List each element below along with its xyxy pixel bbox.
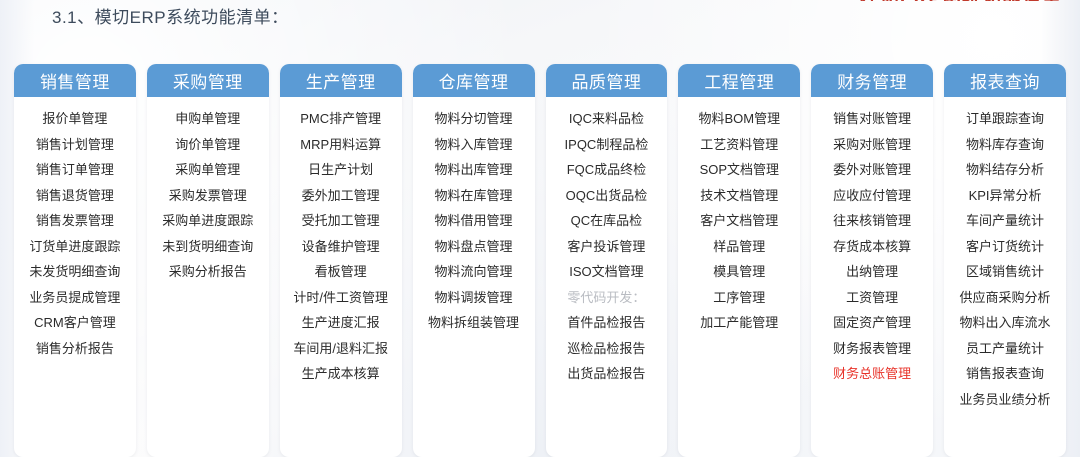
module-item-list: 物料分切管理物料入库管理物料出库管理物料在库管理物料借用管理物料盘点管理物料流向…: [413, 97, 535, 346]
module-card-title[interactable]: 仓库管理: [413, 64, 535, 97]
module-item[interactable]: IPQC制程品检: [565, 132, 649, 158]
slide-page: 模切ERP系统功能清单 3.1、模切ERP系统功能清单： 销售管理报价单管理销售…: [0, 0, 1080, 457]
module-item[interactable]: 业务员提成管理: [29, 285, 120, 311]
module-item[interactable]: 物料BOM管理: [699, 106, 781, 132]
module-item[interactable]: 财务报表管理: [833, 336, 911, 362]
module-item[interactable]: 委外对账管理: [833, 157, 911, 183]
module-item[interactable]: 采购单进度跟踪: [162, 208, 253, 234]
module-card-title[interactable]: 采购管理: [147, 64, 269, 97]
module-item[interactable]: 工序管理: [713, 285, 765, 311]
module-card: 采购管理申购单管理询价单管理采购单管理采购发票管理采购单进度跟踪未到货明细查询采…: [147, 64, 269, 457]
module-item-list: 申购单管理询价单管理采购单管理采购发票管理采购单进度跟踪未到货明细查询采购分析报…: [147, 97, 269, 295]
module-item[interactable]: 模具管理: [713, 259, 765, 285]
module-item[interactable]: 加工产能管理: [700, 310, 778, 336]
module-item[interactable]: 受托加工管理: [302, 208, 380, 234]
module-item[interactable]: 询价单管理: [175, 132, 240, 158]
module-item[interactable]: 采购发票管理: [169, 183, 247, 209]
module-item[interactable]: 销售计划管理: [36, 132, 114, 158]
module-item[interactable]: 出货品检报告: [567, 361, 645, 387]
module-item[interactable]: 采购对账管理: [833, 132, 911, 158]
module-card-title[interactable]: 财务管理: [811, 64, 933, 97]
module-item[interactable]: 存货成本核算: [833, 234, 911, 260]
module-item[interactable]: 申购单管理: [175, 106, 240, 132]
module-item[interactable]: QC在库品检: [571, 208, 643, 234]
module-item[interactable]: SOP文档管理: [700, 157, 779, 183]
module-item[interactable]: IQC来料品检: [569, 106, 644, 132]
module-item[interactable]: 应收应付管理: [833, 183, 911, 209]
module-item[interactable]: 物料分切管理: [435, 106, 513, 132]
module-item-list: IQC来料品检IPQC制程品检FQC成品终检OQC出货品检QC在库品检客户投诉管…: [546, 97, 668, 397]
module-item[interactable]: 物料盘点管理: [435, 234, 513, 260]
module-item[interactable]: 首件品检报告: [567, 310, 645, 336]
module-item-group-label: 零代码开发：: [567, 285, 645, 311]
module-item[interactable]: 设备维护管理: [302, 234, 380, 260]
module-item[interactable]: 计时/件工资管理: [293, 285, 388, 311]
module-item[interactable]: PMC排产管理: [300, 106, 381, 132]
module-item[interactable]: 物料出库管理: [435, 157, 513, 183]
module-item[interactable]: 客户文档管理: [700, 208, 778, 234]
module-item[interactable]: 未发货明细查询: [29, 259, 120, 285]
module-item[interactable]: 出纳管理: [846, 259, 898, 285]
module-item[interactable]: 物料流向管理: [435, 259, 513, 285]
module-card: 生产管理PMC排产管理MRP用料运算日生产计划委外加工管理受托加工管理设备维护管…: [280, 64, 402, 457]
module-item[interactable]: 订单跟踪查询: [966, 106, 1044, 132]
module-card-title[interactable]: 生产管理: [280, 64, 402, 97]
module-item[interactable]: 业务员业绩分析: [960, 387, 1051, 413]
module-item[interactable]: 委外加工管理: [302, 183, 380, 209]
module-item[interactable]: 销售退货管理: [36, 183, 114, 209]
module-item[interactable]: 采购单管理: [175, 157, 240, 183]
module-item[interactable]: 物料结存分析: [966, 157, 1044, 183]
module-item-list: 销售对账管理采购对账管理委外对账管理应收应付管理往来核销管理存货成本核算出纳管理…: [811, 97, 933, 397]
module-item[interactable]: 财务总账管理: [833, 361, 911, 387]
module-item[interactable]: 固定资产管理: [833, 310, 911, 336]
module-item[interactable]: MRP用料运算: [300, 132, 381, 158]
module-card-title[interactable]: 品质管理: [546, 64, 668, 97]
module-item[interactable]: 样品管理: [713, 234, 765, 260]
module-item[interactable]: 物料拆组装管理: [428, 310, 519, 336]
module-item[interactable]: 订货单进度跟踪: [29, 234, 120, 260]
module-card-title[interactable]: 工程管理: [678, 64, 800, 97]
module-item[interactable]: 未到货明细查询: [162, 234, 253, 260]
module-card-title[interactable]: 销售管理: [14, 64, 136, 97]
module-card-title[interactable]: 报表查询: [944, 64, 1066, 97]
module-item[interactable]: 生产成本核算: [302, 361, 380, 387]
module-item[interactable]: FQC成品终检: [567, 157, 646, 183]
module-item[interactable]: 物料调拨管理: [435, 285, 513, 311]
module-item[interactable]: 工艺资料管理: [700, 132, 778, 158]
module-card-grid: 销售管理报价单管理销售计划管理销售订单管理销售退货管理销售发票管理订货单进度跟踪…: [14, 64, 1066, 457]
module-card: 销售管理报价单管理销售计划管理销售订单管理销售退货管理销售发票管理订货单进度跟踪…: [14, 64, 136, 457]
module-item[interactable]: ISO文档管理: [569, 259, 643, 285]
module-card: 品质管理IQC来料品检IPQC制程品检FQC成品终检OQC出货品检QC在库品检客…: [546, 64, 668, 457]
module-item[interactable]: 车间用/退料汇报: [293, 336, 388, 362]
module-item[interactable]: 看板管理: [315, 259, 367, 285]
module-item[interactable]: OQC出货品检: [566, 183, 648, 209]
module-item[interactable]: 巡检品检报告: [567, 336, 645, 362]
module-item[interactable]: 日生产计划: [308, 157, 373, 183]
module-item[interactable]: 报价单管理: [42, 106, 107, 132]
module-card: 报表查询订单跟踪查询物料库存查询物料结存分析KPI异常分析车间产量统计客户订货统…: [944, 64, 1066, 457]
module-item[interactable]: 区域销售统计: [966, 259, 1044, 285]
module-item[interactable]: 工资管理: [846, 285, 898, 311]
module-item[interactable]: 物料借用管理: [435, 208, 513, 234]
module-item[interactable]: 往来核销管理: [833, 208, 911, 234]
module-item[interactable]: 客户投诉管理: [567, 234, 645, 260]
module-item-list: 报价单管理销售计划管理销售订单管理销售退货管理销售发票管理订货单进度跟踪未发货明…: [14, 97, 136, 371]
module-item[interactable]: CRM客户管理: [34, 310, 116, 336]
module-item[interactable]: 客户订货统计: [966, 234, 1044, 260]
module-item[interactable]: 销售报表查询: [966, 361, 1044, 387]
module-item-list: 订单跟踪查询物料库存查询物料结存分析KPI异常分析车间产量统计客户订货统计区域销…: [944, 97, 1066, 422]
module-item[interactable]: 技术文档管理: [700, 183, 778, 209]
clipped-top-heading: 模切ERP系统功能清单: [860, 0, 1062, 1]
module-item[interactable]: 销售对账管理: [833, 106, 911, 132]
module-item[interactable]: 供应商采购分析: [960, 285, 1051, 311]
module-item-list: 物料BOM管理工艺资料管理SOP文档管理技术文档管理客户文档管理样品管理模具管理…: [678, 97, 800, 346]
module-card: 工程管理物料BOM管理工艺资料管理SOP文档管理技术文档管理客户文档管理样品管理…: [678, 64, 800, 457]
module-item[interactable]: 销售发票管理: [36, 208, 114, 234]
module-item[interactable]: 生产进度汇报: [302, 310, 380, 336]
module-item[interactable]: 物料在库管理: [435, 183, 513, 209]
module-item[interactable]: 员工产量统计: [966, 336, 1044, 362]
module-item[interactable]: 车间产量统计: [966, 208, 1044, 234]
module-item[interactable]: 物料出入库流水: [960, 310, 1051, 336]
module-item[interactable]: 销售订单管理: [36, 157, 114, 183]
page-title: 3.1、模切ERP系统功能清单：: [52, 3, 289, 28]
module-item[interactable]: KPI异常分析: [969, 183, 1042, 209]
module-card: 仓库管理物料分切管理物料入库管理物料出库管理物料在库管理物料借用管理物料盘点管理…: [413, 64, 535, 457]
module-item[interactable]: 物料入库管理: [435, 132, 513, 158]
module-item-list: PMC排产管理MRP用料运算日生产计划委外加工管理受托加工管理设备维护管理看板管…: [280, 97, 402, 397]
module-item[interactable]: 采购分析报告: [169, 259, 247, 285]
module-item[interactable]: 物料库存查询: [966, 132, 1044, 158]
module-card: 财务管理销售对账管理采购对账管理委外对账管理应收应付管理往来核销管理存货成本核算…: [811, 64, 933, 457]
module-item[interactable]: 销售分析报告: [36, 336, 114, 362]
